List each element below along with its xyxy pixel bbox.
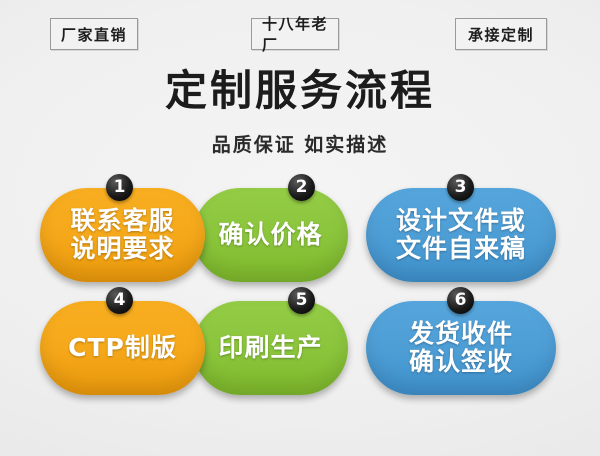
- flow-step-label: 印刷生产: [212, 334, 328, 362]
- flow-step-4: CTP制版: [40, 301, 205, 395]
- flow-step-6: 发货收件 确认签收: [366, 301, 556, 395]
- flow-step-label: 联系客服 说明要求: [64, 207, 180, 263]
- step-number-badge-5: 5: [288, 287, 315, 314]
- flow-step-label: 发货收件 确认签收: [403, 320, 519, 376]
- step-number-badge-2: 2: [288, 174, 315, 201]
- flow-step-1: 联系客服 说明要求: [40, 188, 205, 282]
- flow-step-label: 设计文件或 文件自来稿: [390, 207, 532, 263]
- step-number-badge-4: 4: [106, 287, 133, 314]
- step-number-badge-1: 1: [106, 174, 133, 201]
- process-flow: 设计文件或 文件自来稿 确认价格 联系客服 说明要求 发货收件 确认签收 印刷生…: [0, 0, 600, 456]
- promo-poster: 厂家直销 十八年老厂 承接定制 定制服务流程 品质保证 如实描述 设计文件或 文…: [0, 0, 600, 456]
- flow-step-3: 设计文件或 文件自来稿: [366, 188, 556, 282]
- flow-step-label: CTP制版: [62, 334, 183, 362]
- step-number-badge-3: 3: [447, 174, 474, 201]
- flow-step-label: 确认价格: [212, 221, 328, 249]
- step-number-badge-6: 6: [447, 287, 474, 314]
- flow-step-5: 印刷生产: [193, 301, 348, 395]
- flow-step-2: 确认价格: [193, 188, 348, 282]
